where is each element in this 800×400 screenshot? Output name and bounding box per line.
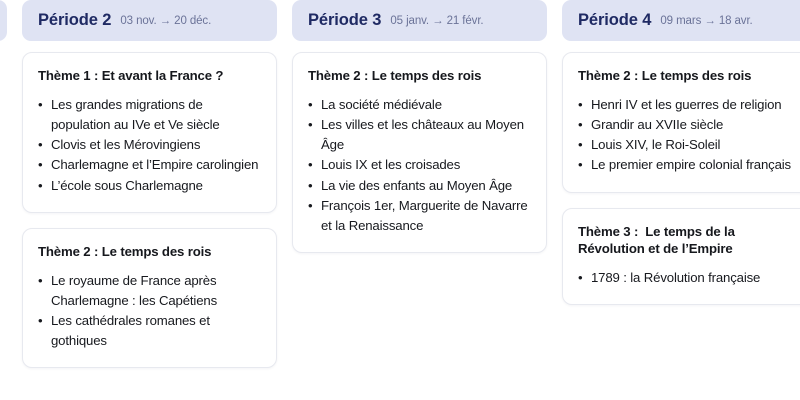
theme-topic-item[interactable]: L’école sous Charlemagne [38,176,261,196]
theme-topic-item[interactable]: Grandir au XVIIe siècle [578,115,800,135]
theme-card-list: Thème 1 : Et avant la France ?Les grande… [22,52,277,368]
theme-topic-item[interactable]: La société médiévale [308,95,531,115]
theme-topic-item[interactable]: Henri IV et les guerres de religion [578,95,800,115]
theme-topic-item[interactable]: Charlemagne et l’Empire carolingien [38,155,261,175]
theme-topic-item[interactable]: François 1er, Marguerite de Navarre et l… [308,196,531,236]
theme-card-list: Thème 2 : Le temps des roisLa société mé… [292,52,547,253]
period-column: Période 409 mars → 18 avr.Thème 2 : Le t… [562,0,800,305]
theme-topic-item[interactable]: 1789 : la Révolution française [578,268,800,288]
theme-topic-item[interactable]: Louis XIV, le Roi-Soleil [578,135,800,155]
theme-card[interactable]: Thème 2 : Le temps des roisLe royaume de… [22,228,277,369]
theme-topic-item[interactable]: Clovis et les Mérovingiens [38,135,261,155]
curriculum-timeline-board: Période 1Période 203 nov. → 20 déc.Thème… [0,0,800,400]
period-header-pill[interactable]: Période 1 [0,0,7,41]
theme-topic-item[interactable]: Louis IX et les croisades [308,155,531,175]
theme-card-title: Thème 2 : Le temps des rois [308,67,531,85]
theme-topic-list: La société médiévaleLes villes et les ch… [308,95,531,236]
theme-topic-list: Le royaume de France après Charlemagne :… [38,271,261,352]
period-column: Période 305 janv. → 21 févr.Thème 2 : Le… [292,0,547,253]
theme-card[interactable]: Thème 2 : Le temps des roisLa société mé… [292,52,547,253]
theme-card[interactable]: Thème 2 : Le temps des roisHenri IV et l… [562,52,800,193]
theme-topic-item[interactable]: Les grandes migrations de population au … [38,95,261,135]
theme-card[interactable]: Thème 1 : Et avant la France ?Les grande… [22,52,277,213]
period-column: Période 203 nov. → 20 déc.Thème 1 : Et a… [22,0,277,368]
period-title: Période 2 [38,11,111,30]
period-header-pill[interactable]: Période 409 mars → 18 avr. [562,0,800,41]
theme-card[interactable]: Thème 3 : Le temps de la Révolution et d… [562,208,800,306]
theme-topic-list: 1789 : la Révolution française [578,268,800,288]
theme-topic-item[interactable]: La vie des enfants au Moyen Âge [308,176,531,196]
period-date-range: 05 janv. → 21 févr. [390,15,483,27]
theme-topic-item[interactable]: Les cathédrales romanes et gothiques [38,311,261,351]
theme-topic-item[interactable]: Le premier empire colonial français [578,155,800,175]
period-column: Période 1 [0,0,7,52]
period-date-range: 03 nov. → 20 déc. [120,15,211,27]
theme-topic-item[interactable]: Le royaume de France après Charlemagne :… [38,271,261,311]
period-header-pill[interactable]: Période 305 janv. → 21 févr. [292,0,547,41]
theme-topic-list: Les grandes migrations de population au … [38,95,261,196]
theme-card-title: Thème 2 : Le temps des rois [578,67,800,85]
period-title: Période 4 [578,11,651,30]
theme-card-title: Thème 2 : Le temps des rois [38,243,261,261]
theme-card-title: Thème 1 : Et avant la France ? [38,67,261,85]
period-columns-track: Période 1Période 203 nov. → 20 déc.Thème… [0,0,800,400]
theme-card-title: Thème 3 : Le temps de la Révolution et d… [578,223,800,259]
period-header-pill[interactable]: Période 203 nov. → 20 déc. [22,0,277,41]
period-date-range: 09 mars → 18 avr. [660,15,752,27]
theme-topic-item[interactable]: Les villes et les châteaux au Moyen Âge [308,115,531,155]
theme-card-list: Thème 2 : Le temps des roisHenri IV et l… [562,52,800,305]
theme-topic-list: Henri IV et les guerres de religionGrand… [578,95,800,176]
period-title: Période 3 [308,11,381,30]
